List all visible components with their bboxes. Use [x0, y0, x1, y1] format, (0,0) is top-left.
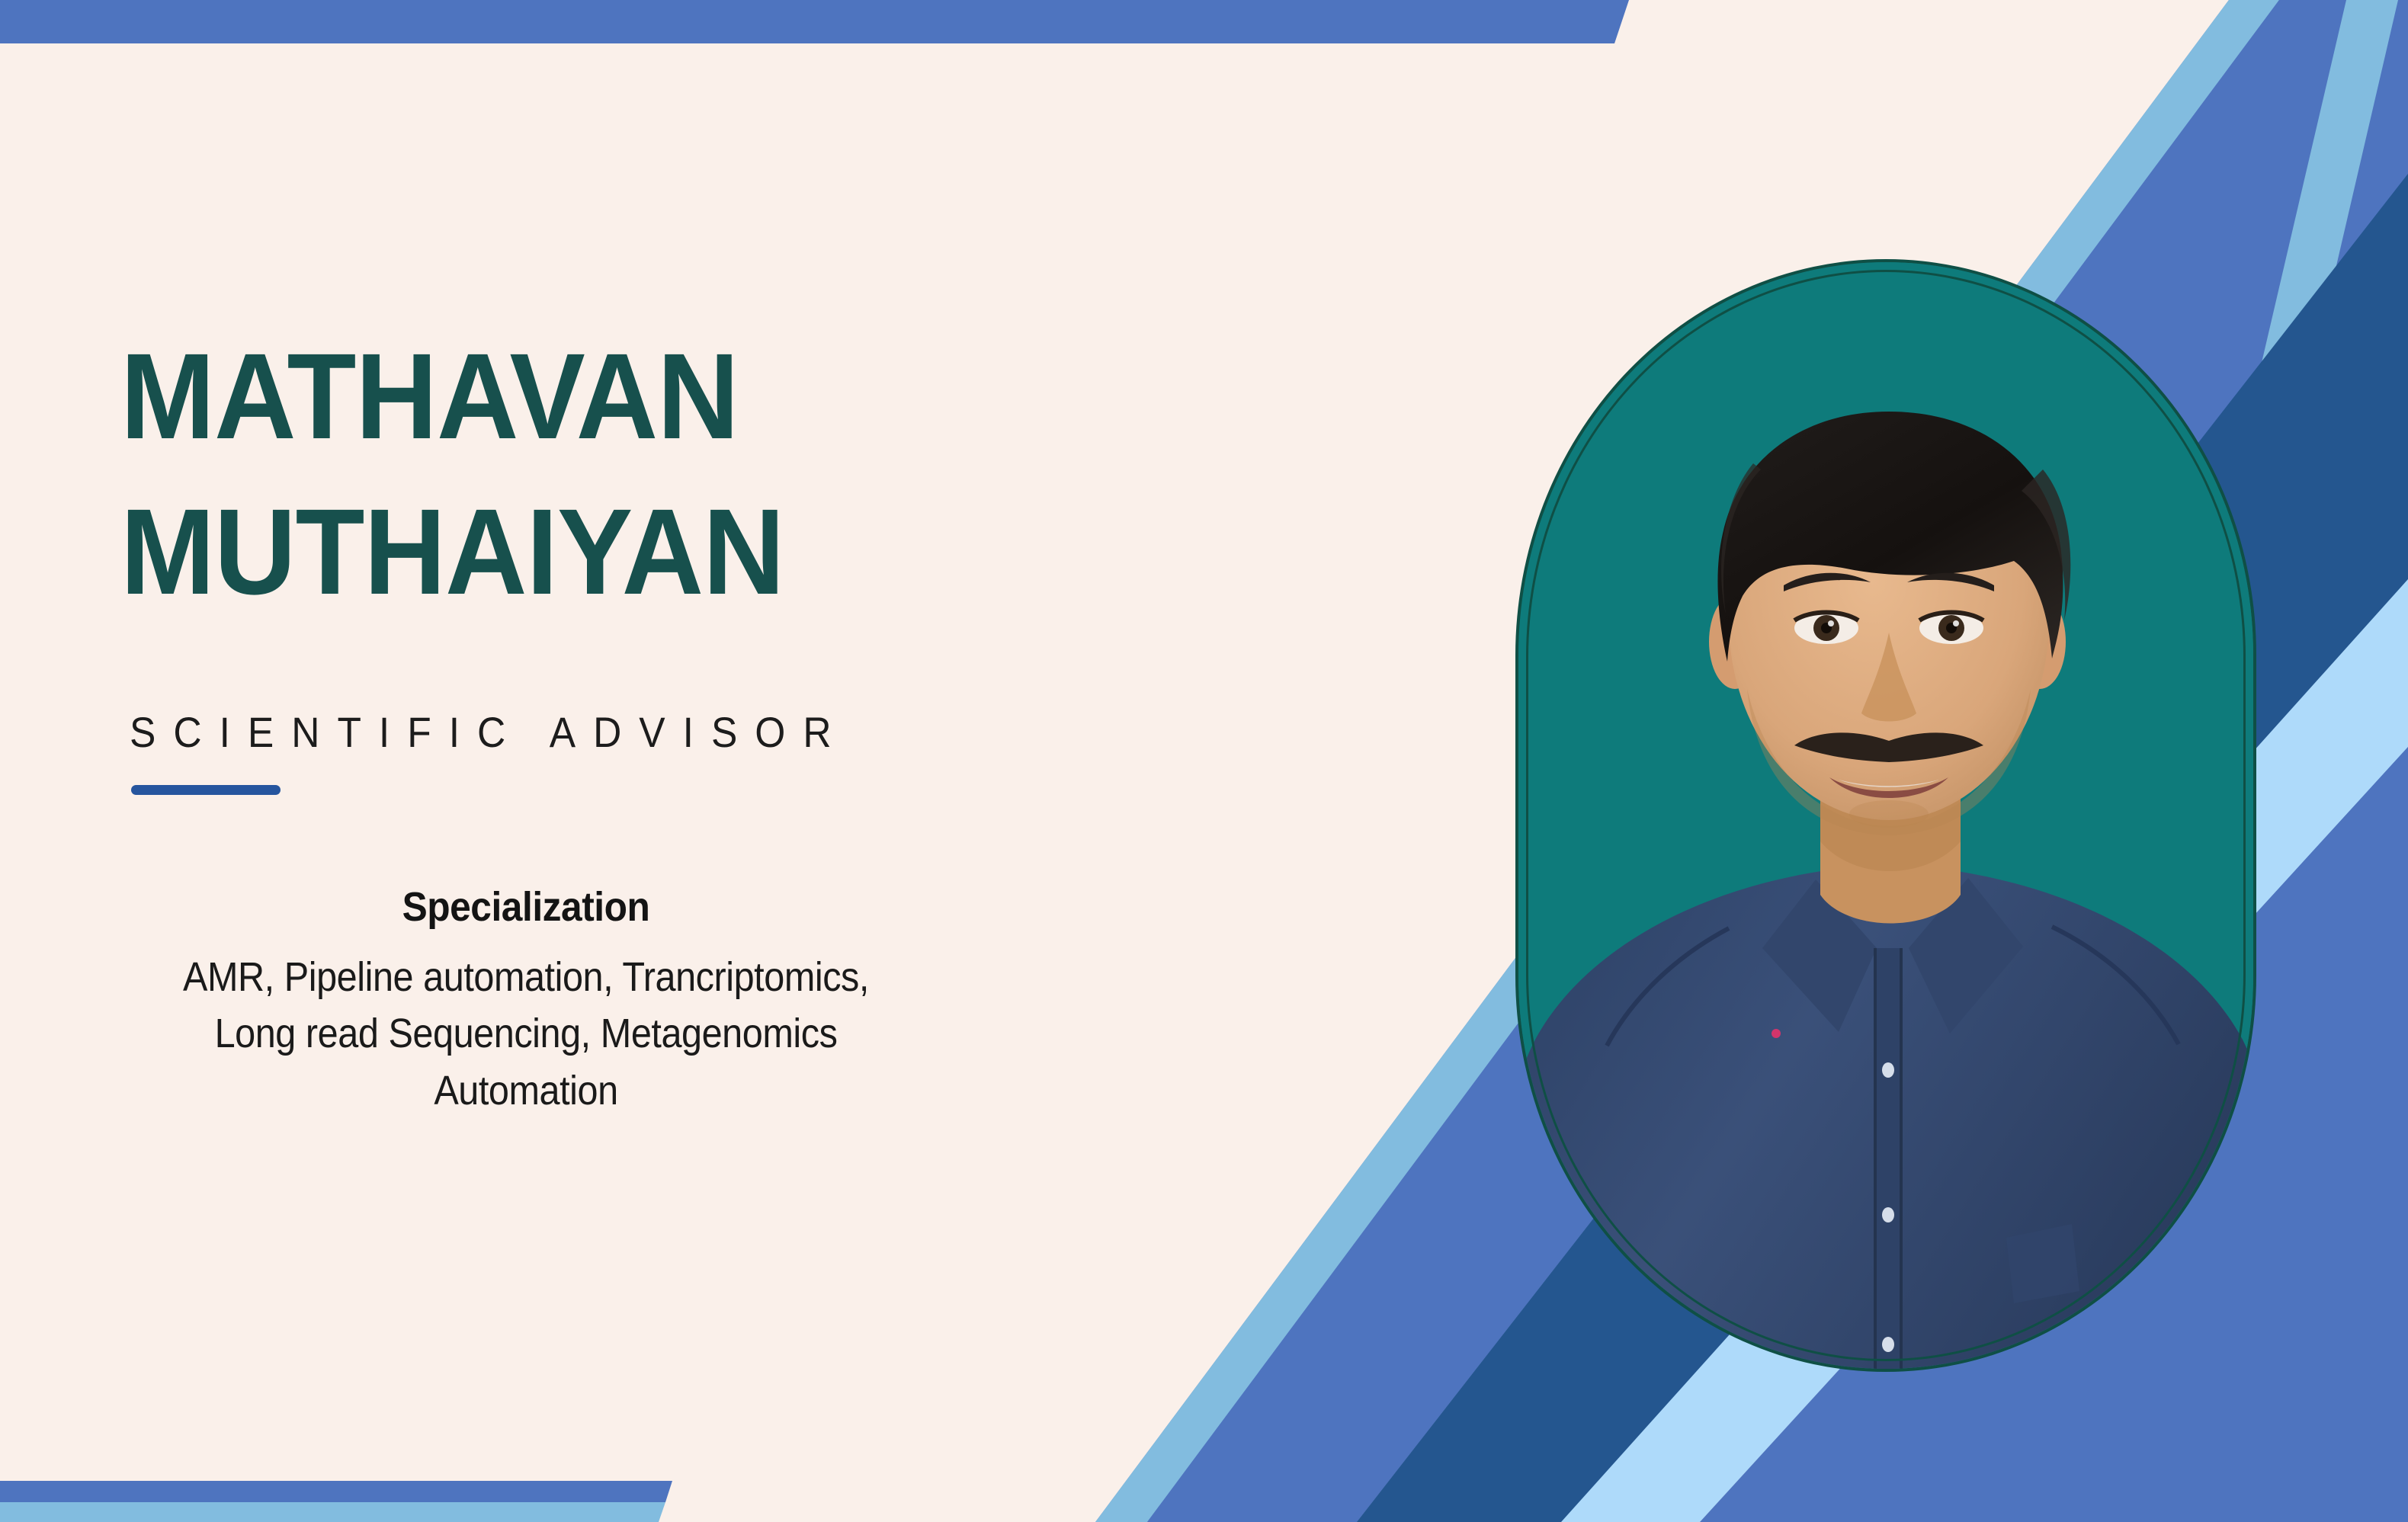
- name-block: MATHAVAN MUTHAIYAN: [120, 335, 1111, 613]
- profile-card: MATHAVAN MUTHAIYAN SCIENTIFIC ADVISOR Sp…: [0, 0, 2408, 1522]
- portrait-photo: [1518, 262, 2256, 1372]
- specialization-line-3: Automation: [149, 1062, 903, 1120]
- portrait-frame: [1515, 259, 2256, 1372]
- first-name: MATHAVAN: [120, 335, 1042, 457]
- role-underline-accent: [131, 785, 281, 795]
- last-name: MUTHAIYAN: [120, 491, 1042, 613]
- specialization-line-1: AMR, Pipeline automation, Trancriptomics…: [149, 949, 903, 1006]
- portrait-shape: [1515, 259, 2256, 1372]
- role-title: SCIENTIFIC ADVISOR: [130, 707, 849, 757]
- specialization-heading: Specialization: [140, 886, 912, 929]
- specialization-line-2: Long read Sequencing, Metagenomics: [149, 1005, 903, 1062]
- specialization-block: Specialization AMR, Pipeline automation,…: [107, 886, 945, 1119]
- specialization-lines: AMR, Pipeline automation, Trancriptomics…: [149, 949, 903, 1120]
- text-column: MATHAVAN MUTHAIYAN SCIENTIFIC ADVISOR Sp…: [0, 0, 1204, 1522]
